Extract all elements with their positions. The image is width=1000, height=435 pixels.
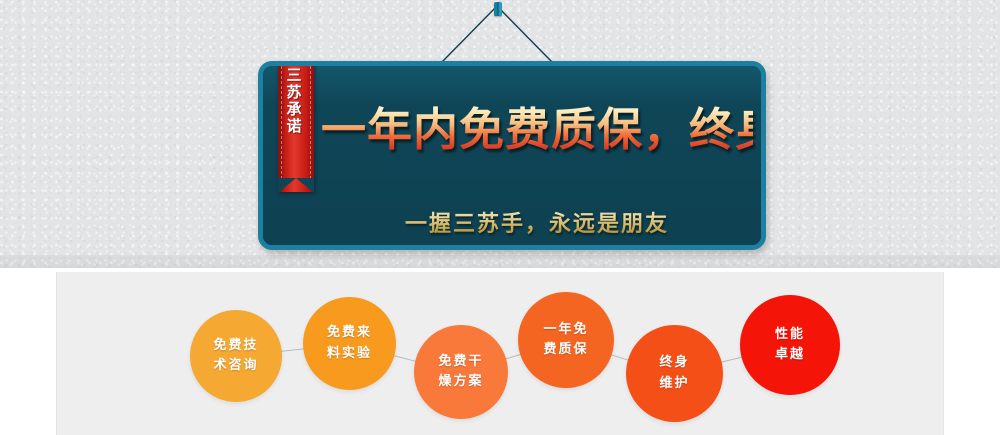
flow-node-label-line: 免费技 [213,336,258,356]
flow-node-label-line: 燥方案 [438,372,483,392]
flow-connector [720,357,744,364]
flow-node-label: 免费干燥方案 [438,352,483,392]
flow-node-label-line: 卓越 [775,345,805,365]
flow-node-label-line: 维护 [659,374,689,394]
flow-node-free-tech-consult[interactable]: 免费技术咨询 [190,310,282,402]
flow-node-lifetime-maintenance[interactable]: 终身维护 [626,325,723,422]
flow-node-label-line: 终身 [659,353,689,373]
flow-node-free-drying-plan[interactable]: 免费干燥方案 [414,325,508,419]
flow-connector [280,348,306,352]
flow-node-free-material-test[interactable]: 免费来料实验 [303,297,396,390]
flow-node-label: 免费技术咨询 [213,336,258,376]
ribbon-badge: 三苏承诺 [278,66,314,192]
flow-node-label-line: 费质保 [543,340,588,360]
flow-node-label-line: 免费来 [327,323,372,343]
flow-node-label-line: 免费干 [438,352,483,372]
flow-node-label-line: 一年免 [543,320,588,340]
promo-banner-page: 三苏承诺 一年内免费质保，终身维护 一握三苏手，永远是朋友 免费技术咨询免费来料… [0,0,1000,435]
promise-banner: 三苏承诺 一年内免费质保，终身维护 一握三苏手，永远是朋友 [258,61,766,250]
flow-node-label-line: 术咨询 [213,356,258,376]
flow-node-label: 性能卓越 [775,325,805,365]
banner-subtitle: 一握三苏手，永远是朋友 [321,206,753,238]
flow-node-label: 免费来料实验 [327,323,372,363]
nail-icon [494,2,502,16]
flow-node-label-line: 料实验 [327,344,372,364]
flow-connector [392,355,417,362]
banner-headline: 一年内免费质保，终身维护 [321,106,753,153]
service-flow-panel: 免费技术咨询免费来料实验免费干燥方案一年免费质保终身维护性能卓越 [56,272,944,435]
banner-inner: 三苏承诺 一年内免费质保，终身维护 一握三苏手，永远是朋友 [263,66,761,245]
flow-node-excellent-performance[interactable]: 性能卓越 [740,295,840,395]
flow-node-label: 一年免费质保 [543,320,588,360]
flow-node-label-line: 性能 [775,325,805,345]
flow-node-one-year-warranty[interactable]: 一年免费质保 [518,292,614,388]
ribbon-label: 三苏承诺 [288,67,305,135]
flow-node-label: 终身维护 [659,353,689,393]
